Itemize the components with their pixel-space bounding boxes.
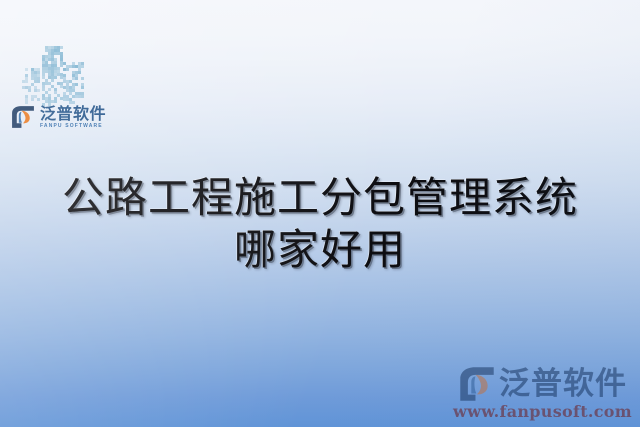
watermark-brand-row: 泛普软件 bbox=[458, 365, 627, 403]
header-logo-brand-cn: 泛普软件 bbox=[40, 106, 106, 122]
pixel-skyline-graphic bbox=[22, 44, 84, 106]
fanpu-watermark-icon bbox=[458, 365, 496, 403]
fanpu-logo-icon bbox=[10, 104, 36, 130]
headline: 公路工程施工分包管理系统 哪家好用 bbox=[0, 172, 640, 276]
headline-line-1: 公路工程施工分包管理系统 bbox=[0, 172, 640, 224]
header-logo: 泛普软件 FANPU SOFTWARE bbox=[10, 104, 106, 130]
headline-line-2: 哪家好用 bbox=[0, 224, 640, 276]
header-logo-brand-en: FANPU SOFTWARE bbox=[40, 124, 106, 129]
watermark-url: www.fanpusoft.com bbox=[453, 404, 632, 420]
watermark: 泛普软件 www.fanpusoft.com bbox=[453, 365, 632, 420]
watermark-brand-cn: 泛普软件 bbox=[499, 369, 627, 400]
promo-banner: 泛普软件 FANPU SOFTWARE 公路工程施工分包管理系统 哪家好用 泛普… bbox=[0, 0, 640, 427]
